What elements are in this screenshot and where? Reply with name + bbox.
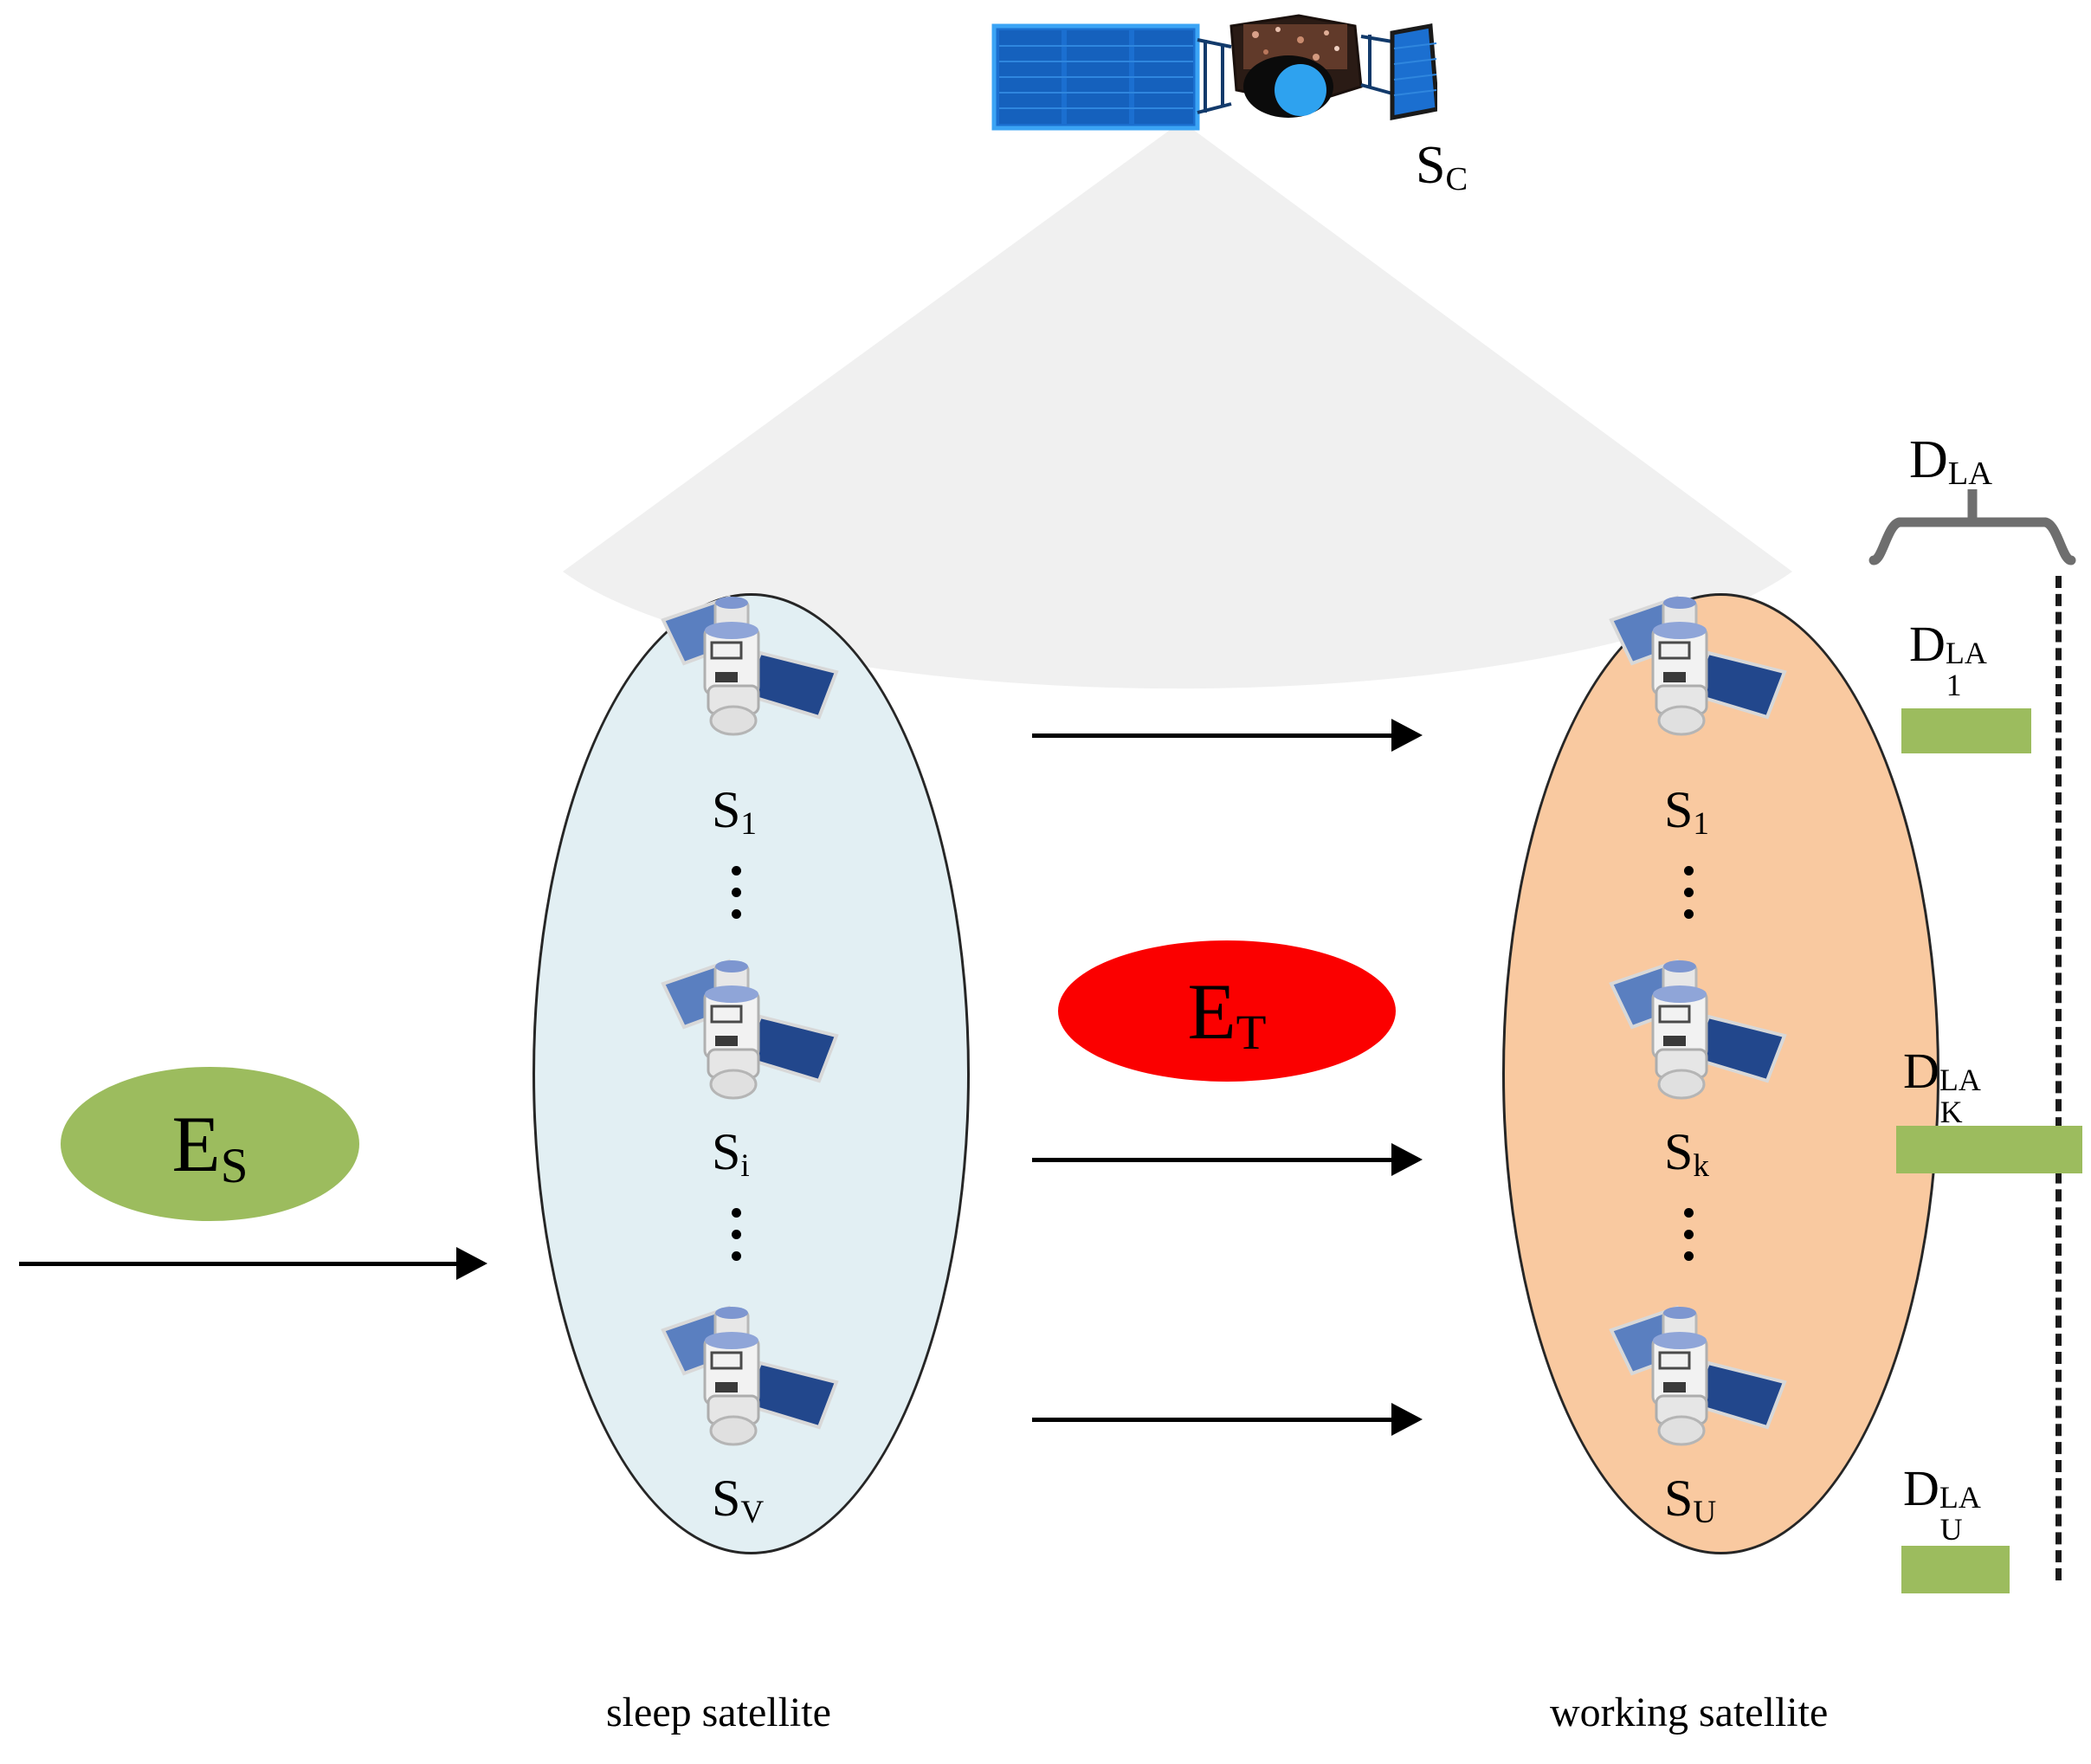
arrow-shaft	[19, 1262, 456, 1266]
sleep-group-caption: sleep satellite	[606, 1689, 831, 1736]
working-group-caption: working satellite	[1550, 1689, 1828, 1736]
flow-arrow-energy-sleep	[19, 1247, 487, 1280]
central-satellite-label: SC	[1416, 139, 1468, 192]
demand-label-1: DLA1	[1909, 619, 1998, 669]
working-satellite-label-1: S1	[1664, 784, 1709, 836]
sleep-satellite-icon-1	[658, 589, 874, 740]
flow-arrow-transfer-3	[1032, 1403, 1423, 1436]
central-satellite-icon	[987, 7, 1437, 158]
sleep-satellite-icon-v	[658, 1299, 874, 1451]
sleep-group-ellipsis-top	[732, 866, 741, 919]
energy-transfer-ellipse: ET	[1058, 940, 1396, 1082]
arrow-head	[1391, 1143, 1423, 1176]
demand-label-k: DLAK	[1903, 1046, 1992, 1096]
energy-transfer-label: ET	[1187, 972, 1266, 1051]
arrow-head	[1391, 719, 1423, 752]
working-satellite-label-u: SU	[1664, 1472, 1716, 1524]
arrow-shaft	[1032, 733, 1391, 738]
diagram-canvas: SC ES S1	[0, 0, 2091, 1764]
arrow-head	[456, 1247, 487, 1280]
demand-bar-u	[1901, 1546, 2010, 1593]
energy-sleep-label: ES	[172, 1104, 248, 1184]
working-satellite-icon-u	[1606, 1299, 1823, 1451]
flow-arrow-transfer-2	[1032, 1143, 1423, 1176]
working-satellite-icon-1	[1606, 589, 1823, 740]
demand-total-label: DLA	[1909, 433, 1992, 487]
flow-arrow-transfer-1	[1032, 719, 1423, 752]
sleep-satellite-label-1: S1	[712, 784, 757, 836]
sleep-satellite-label-v: SV	[712, 1472, 764, 1524]
arrow-shaft	[1032, 1418, 1391, 1422]
sleep-satellite-label-i: Si	[712, 1126, 750, 1178]
demand-bar-1	[1901, 708, 2031, 753]
working-group-ellipsis-top	[1684, 866, 1694, 919]
arrow-shaft	[1032, 1158, 1391, 1162]
sleep-satellite-icon-i	[658, 953, 874, 1104]
demand-label-u: DLAU	[1903, 1464, 1992, 1514]
sleep-group-ellipsis-bottom	[732, 1208, 741, 1261]
working-satellite-icon-k	[1606, 953, 1823, 1104]
demand-bar-k	[1896, 1126, 2082, 1173]
working-group-ellipsis-bottom	[1684, 1208, 1694, 1261]
working-satellite-label-k: Sk	[1664, 1126, 1709, 1178]
arrow-head	[1391, 1403, 1423, 1436]
demand-boundary-dashed-line	[2056, 576, 2062, 1580]
energy-sleep-ellipse: ES	[61, 1067, 359, 1221]
